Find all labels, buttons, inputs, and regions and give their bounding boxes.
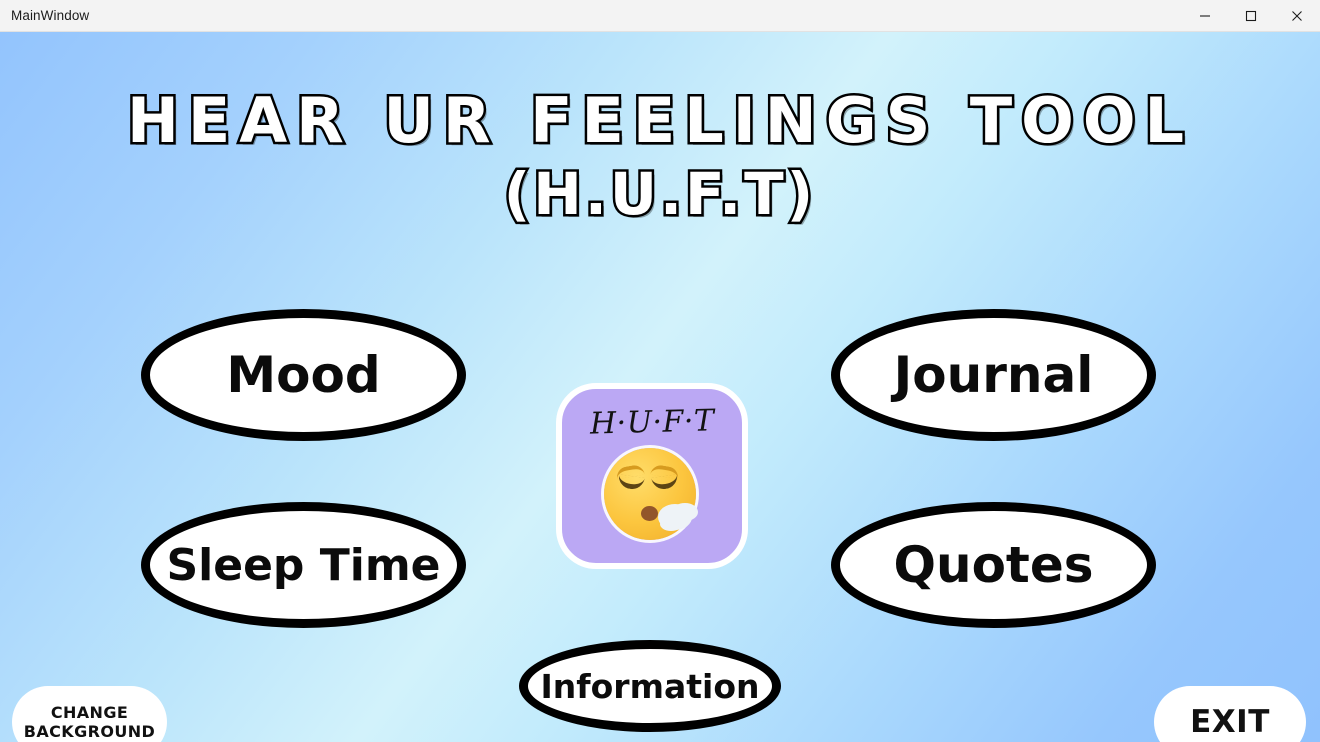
mood-button[interactable]: Mood [141, 309, 466, 441]
app-logo[interactable]: H·U·F·T [556, 383, 748, 569]
minimize-button[interactable] [1182, 0, 1228, 32]
app-title-line-1: HEAR UR FEELINGS TOOL [0, 84, 1320, 158]
information-button[interactable]: Information [519, 640, 781, 732]
app-title-line-2: (H.U.F.T) [0, 158, 1320, 230]
window-titlebar: MainWindow [0, 0, 1320, 32]
quotes-button[interactable]: Quotes [831, 502, 1156, 628]
maximize-button[interactable] [1228, 0, 1274, 32]
minimize-icon [1199, 10, 1211, 22]
face-exhaling-icon [602, 446, 702, 546]
window-controls [1182, 0, 1320, 32]
app-background: HEAR UR FEELINGS TOOL (H.U.F.T) Mood Sle… [0, 32, 1320, 742]
close-icon [1291, 10, 1303, 22]
logo-wordmark: H·U·F·T [589, 403, 714, 441]
close-button[interactable] [1274, 0, 1320, 32]
maximize-icon [1245, 10, 1257, 22]
emoji-breath-puff [658, 504, 692, 530]
app-heading: HEAR UR FEELINGS TOOL (H.U.F.T) [0, 84, 1320, 230]
emoji-mouth [641, 506, 658, 521]
change-background-button[interactable]: CHANGE BACKGROUND [12, 686, 167, 742]
change-background-label-line-2: BACKGROUND [24, 722, 155, 741]
window-title: MainWindow [0, 8, 89, 23]
sleep-time-button[interactable]: Sleep Time [141, 502, 466, 628]
exit-button[interactable]: EXIT [1154, 686, 1306, 742]
change-background-label-line-1: CHANGE [51, 703, 128, 722]
journal-button[interactable]: Journal [831, 309, 1156, 441]
